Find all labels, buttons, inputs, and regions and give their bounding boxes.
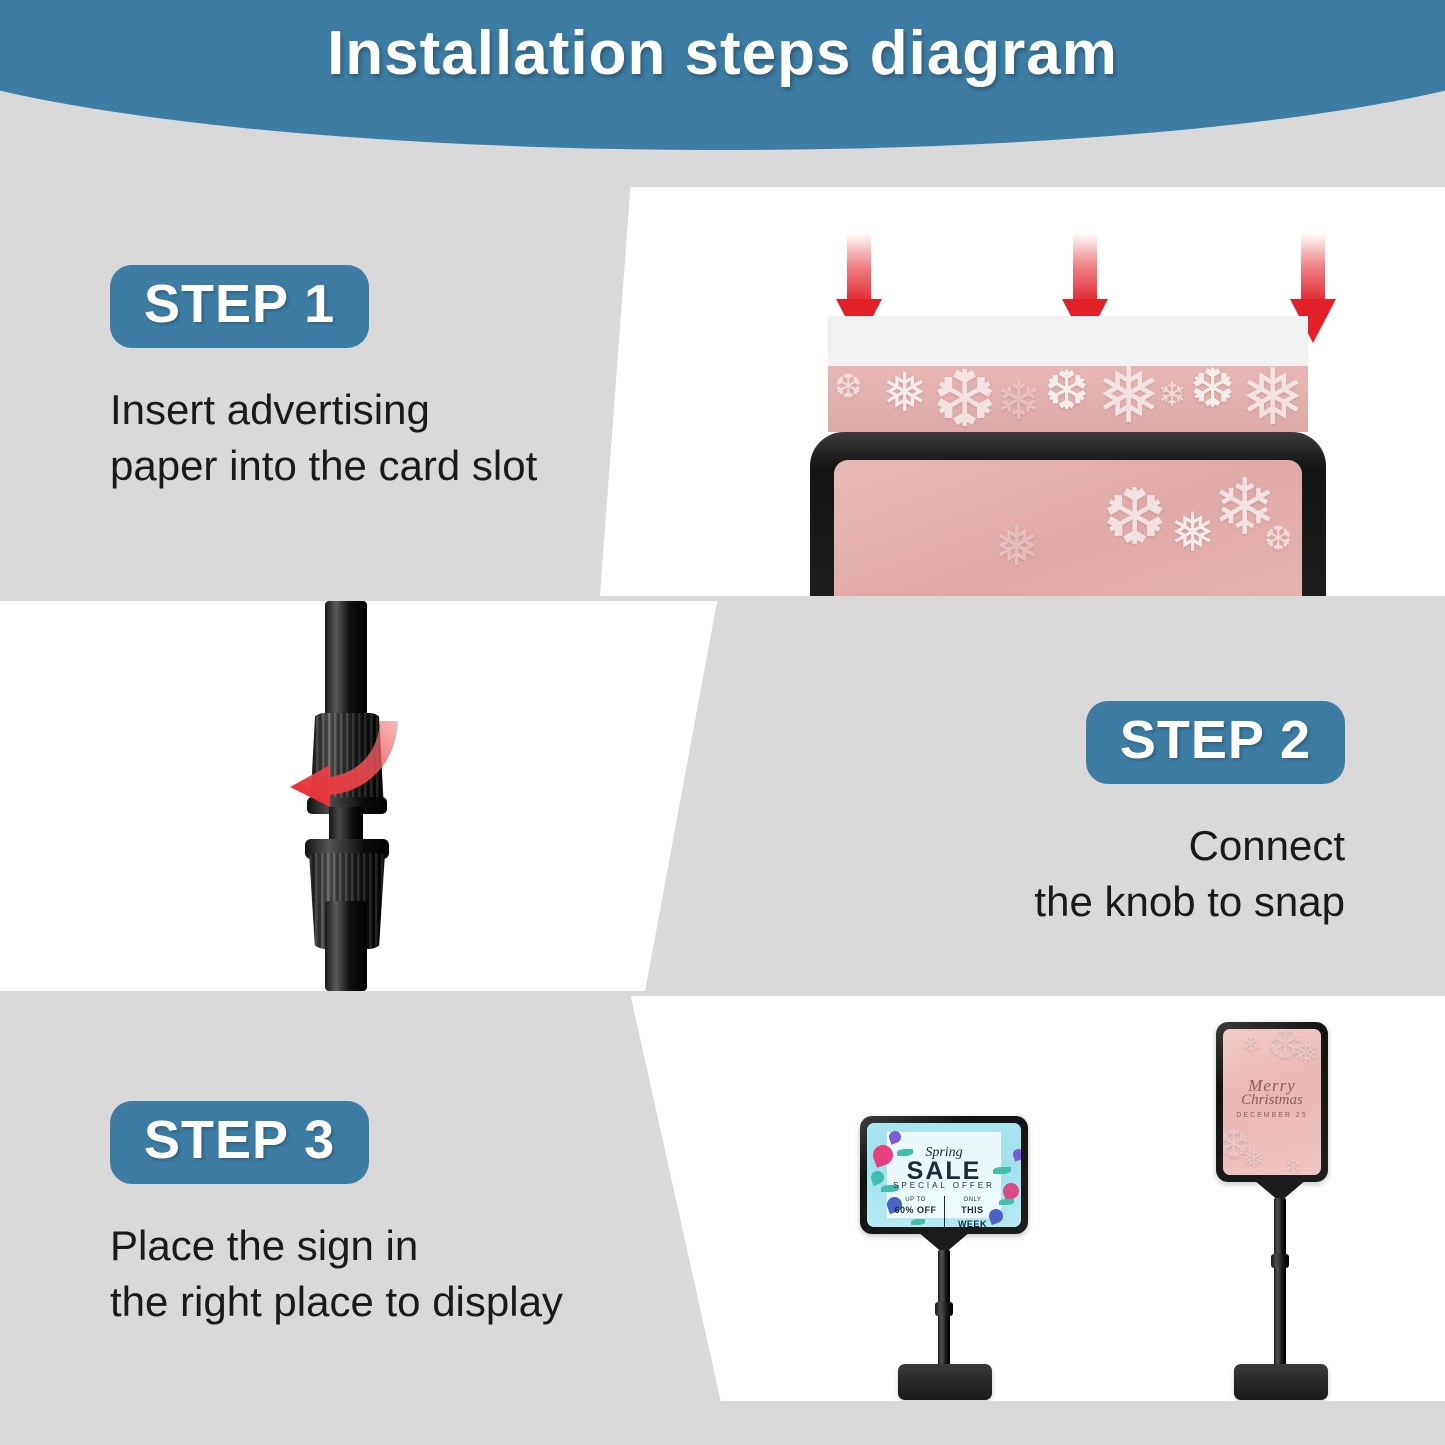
offer-left-big: 60% OFF xyxy=(892,1204,940,1217)
spring-sale-sign-face: Spring SALE SPECIAL OFFER UP TO 60% OFF xyxy=(867,1123,1021,1227)
advertising-paper-top-edge xyxy=(828,316,1308,366)
snowflake-icon: ❆ xyxy=(1044,366,1089,418)
snowflake-icon: ❄ xyxy=(1241,1033,1261,1057)
step-2-description: Connect the knob to snap xyxy=(0,818,1345,929)
arrow-shaft xyxy=(847,233,871,305)
merry-christmas-sign-face: ❆ ❅ ❄ ❆ ❅ ❄ Merry Christmas DECEMBER 25 xyxy=(1223,1029,1321,1175)
step-3-badge: STEP 3 xyxy=(110,1101,369,1184)
special-offer-text: SPECIAL OFFER xyxy=(867,1182,1021,1190)
step-1-text-block: STEP 1 Insert advertising paper into the… xyxy=(110,265,537,493)
offer-left-small: UP TO xyxy=(892,1196,940,1205)
page-header: Installation steps diagram xyxy=(0,0,1445,160)
column-divider xyxy=(944,1196,945,1227)
stand-base xyxy=(1234,1364,1328,1400)
step-row-1: STEP 1 Insert advertising paper into the… xyxy=(0,160,1445,596)
spring-sale-poster: Spring SALE SPECIAL OFFER UP TO 60% OFF xyxy=(867,1123,1021,1227)
snowflake-icon: ❅ xyxy=(1170,506,1215,560)
offer-right-column: ONLY THIS WEEK xyxy=(949,1196,997,1227)
step-3-text-block: STEP 3 Place the sign in the right place… xyxy=(110,1101,563,1329)
snowflake-icon: ❅ xyxy=(1293,1039,1318,1069)
snowflake-icon: ❅ xyxy=(882,366,927,420)
offer-right-small: ONLY xyxy=(949,1196,997,1205)
snowflake-icon: ❅ xyxy=(1240,366,1305,432)
offer-left-column: UP TO 60% OFF xyxy=(892,1196,940,1227)
merry-christmas-stand: ❆ ❅ ❄ ❆ ❅ ❄ Merry Christmas DECEMBER 25 xyxy=(1170,1022,1390,1401)
merry-christmas-sign-frame: ❆ ❅ ❄ ❆ ❅ ❄ Merry Christmas DECEMBER 25 xyxy=(1216,1022,1328,1182)
offer-right-big: THIS WEEK xyxy=(949,1204,997,1227)
snowflake-icon: ❆ xyxy=(1102,478,1167,556)
snowflake-icon: ❄ xyxy=(996,374,1041,428)
advertising-paper-snowflake-band: ❆ ❅ ❆ ❄ ❆ ❅ ❄ ❆ ❅ xyxy=(828,366,1308,432)
step-row-2: STEP 2 Connect the knob to snap xyxy=(0,601,1445,991)
merry-christmas-poster: ❆ ❅ ❄ ❆ ❅ ❄ Merry Christmas DECEMBER 25 xyxy=(1223,1029,1321,1175)
offer-columns: UP TO 60% OFF ONLY THIS WEEK xyxy=(892,1196,997,1227)
step-2-badge: STEP 2 xyxy=(1086,701,1345,784)
arrow-shaft xyxy=(1073,233,1097,305)
step-3-illustration-panel: Spring SALE SPECIAL OFFER UP TO 60% OFF xyxy=(620,996,1445,1401)
snowflake-icon: ❅ xyxy=(1096,366,1161,432)
stand-pole-collar xyxy=(935,1302,953,1316)
stand-pole xyxy=(1274,1198,1286,1380)
snowflake-icon: ❆ xyxy=(1264,522,1293,556)
step-1-badge: STEP 1 xyxy=(110,265,369,348)
step-2-text-block: STEP 2 Connect the knob to snap xyxy=(0,701,1345,929)
stand-base xyxy=(898,1364,992,1400)
arrow-shaft xyxy=(1301,233,1325,305)
step-row-3: STEP 3 Place the sign in the right place… xyxy=(0,996,1445,1445)
snowflake-icon: ❅ xyxy=(994,520,1039,574)
snowflake-icon: ❆ xyxy=(1190,366,1235,416)
snowflake-icon: ❆ xyxy=(834,370,863,404)
snowflake-icon: ❅ xyxy=(1243,1145,1265,1171)
snowflake-icon: ❄ xyxy=(1285,1157,1302,1175)
snowflake-icon: ❆ xyxy=(932,366,997,432)
step-3-description: Place the sign in the right place to dis… xyxy=(110,1218,563,1329)
step-1-description: Insert advertising paper into the card s… xyxy=(110,382,537,493)
sign-poster-face: ❆ ❅ ❄ ❆ ❅ xyxy=(834,460,1302,596)
step-1-illustration-panel: ❆ ❅ ❆ ❄ ❆ ❅ ❄ ❆ ❅ ❆ ❅ ❄ ❆ ❅ xyxy=(600,187,1445,596)
installation-steps-diagram: Installation steps diagram STEP 1 Insert… xyxy=(0,0,1445,1445)
spring-sale-stand: Spring SALE SPECIAL OFFER UP TO 60% OFF xyxy=(850,1116,1070,1401)
stand-pole-collar xyxy=(1271,1254,1289,1268)
snowflake-icon: ❄ xyxy=(1158,378,1187,412)
page-title: Installation steps diagram xyxy=(0,18,1445,89)
christmas-date: DECEMBER 25 xyxy=(1223,1112,1321,1119)
leaf-icon xyxy=(999,1199,1014,1205)
spring-sale-sign-frame: Spring SALE SPECIAL OFFER UP TO 60% OFF xyxy=(860,1116,1028,1234)
christmas-text: Christmas xyxy=(1223,1093,1321,1108)
sign-frame: ❆ ❅ ❄ ❆ ❅ xyxy=(810,432,1326,596)
